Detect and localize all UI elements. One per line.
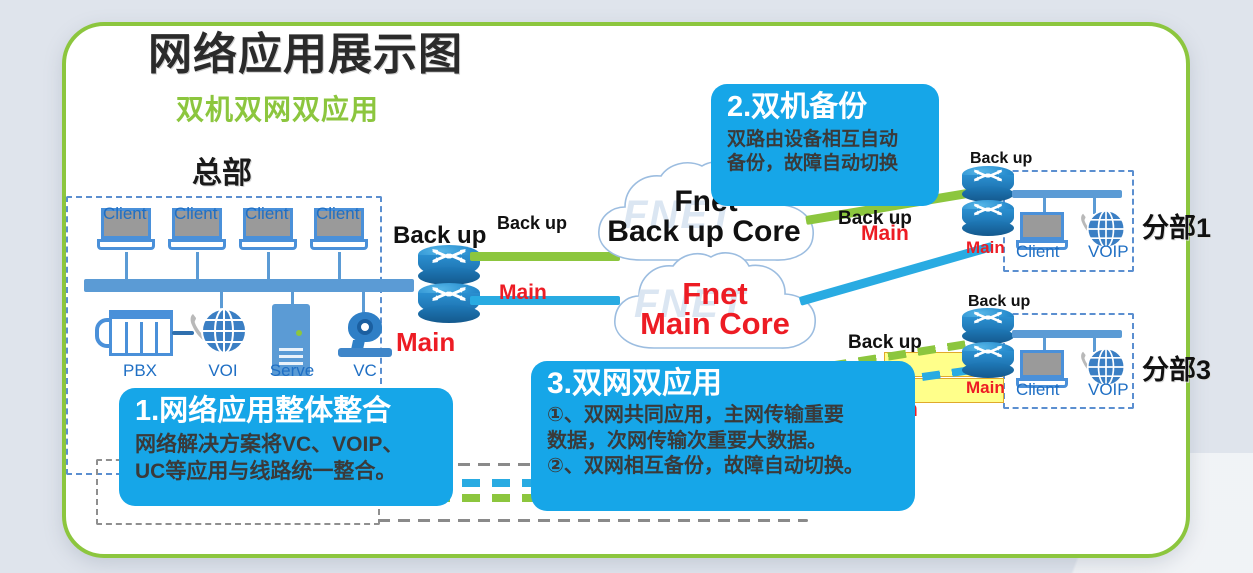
hq-device-label: VC [340, 361, 390, 381]
pbx-divider-icon [140, 322, 143, 353]
callout-2-body-line: 备份，故障自动切换 [727, 152, 923, 176]
camera-lens-icon [357, 319, 373, 335]
phone-hook-icon [95, 318, 109, 348]
branch1-title: 分部1 [1142, 206, 1211, 245]
callout-1-title: 1.网络应用整体整合 [135, 396, 437, 428]
hq-client-label: Client [316, 205, 362, 222]
hq-router-main-label: Main [396, 327, 455, 358]
hq-device-label: Serve [262, 361, 322, 381]
callout-1[interactable]: 1.网络应用整体整合 网络解决方案将VC、VOIP、 UC等应用与线路统一整合。 [119, 388, 453, 506]
callout-3-body-line: 数据，次网传输次重要大数据。 [547, 429, 899, 455]
router-arrows-icon [962, 342, 1014, 361]
branch1-main-router[interactable] [962, 200, 1014, 236]
server-line-icon [279, 355, 303, 358]
branch1-voip-label: VOIP [1088, 243, 1122, 260]
branch1-router-main-label: Main [966, 238, 1005, 258]
router-arrows-icon [962, 166, 1014, 185]
router-bottom-icon [418, 305, 480, 323]
router-bottom-icon [962, 362, 1014, 378]
laptop-screen-icon [1020, 350, 1064, 378]
hq-backup-link-label: Back up [497, 213, 567, 234]
laptop-screen-icon [1020, 212, 1064, 240]
branch1-backup-router[interactable] [962, 166, 1014, 202]
callout-3[interactable]: 3.双网双应用 ①、双网共同应用，主网传输重要 数据，次网传输次重要大数据。 ②… [531, 361, 915, 511]
laptop-base-icon [310, 239, 368, 250]
hq-client-label: Client [103, 205, 149, 222]
branch3-router-main-label: Main [966, 378, 1005, 398]
main-core-line2: Main Core [609, 308, 821, 340]
hq-client-label: Client [174, 205, 220, 222]
hq-drop-line [196, 252, 199, 282]
pbx-divider-icon [125, 322, 128, 353]
hq-drop-line [267, 252, 270, 282]
branch3-main-router[interactable] [962, 342, 1014, 378]
video-camera-icon[interactable] [338, 312, 392, 360]
callout-2[interactable]: 2.双机备份 双路由设备相互自动 备份，故障自动切换 [711, 84, 939, 206]
hq-drop-line [338, 252, 341, 282]
hq-drop-line [362, 290, 365, 314]
callout-1-body-line: UC等应用与线路统一整合。 [135, 459, 437, 486]
branch1-lan-bus [1012, 190, 1122, 198]
hq-device-label: PBX [115, 361, 165, 381]
hq-device-label: VOI [195, 361, 251, 381]
router-bottom-icon [962, 220, 1014, 236]
main-core-line1: Fnet [667, 278, 763, 310]
callout-3-body-line: ②、双网相互备份，故障自动切换。 [547, 454, 899, 480]
hq-main-link-label: Main [499, 281, 547, 305]
diagram-canvas: 网络应用展示图 双机双网双应用 总部 Client Client Client … [0, 0, 1253, 573]
callout-3-body-line: ①、双网共同应用，主网传输重要 [547, 403, 899, 429]
callout-2-title: 2.双机备份 [727, 92, 923, 124]
branch3-backup-router[interactable] [962, 308, 1014, 344]
pbx-header-icon [109, 310, 173, 319]
laptop-base-icon [168, 239, 226, 250]
hq-client-label: Client [245, 205, 291, 222]
callout-2-body-line: 双路由设备相互自动 [727, 128, 923, 152]
branch1-client-label: Client [1016, 243, 1068, 260]
hq-drop-line [125, 252, 128, 282]
page-title: 网络应用展示图 [148, 30, 463, 81]
laptop-base-icon [239, 239, 297, 250]
branch3-title: 分部3 [1142, 348, 1211, 387]
backup-core-line2: Back up Core [589, 217, 819, 248]
main-core-cloud: FNET Fnet Main Core [600, 250, 830, 363]
router-arrows-icon [962, 200, 1014, 219]
page-subtitle: 双机双网双应用 [176, 88, 379, 128]
server-line-icon [279, 348, 303, 351]
branch3-backup-label: Back up [848, 332, 922, 354]
branch1-main-label: Main [861, 222, 909, 246]
branch3-voip-label: VOIP [1088, 381, 1122, 398]
pbx-divider-icon [155, 322, 158, 353]
branch3-client-label: Client [1016, 381, 1068, 398]
laptop-base-icon [97, 239, 155, 250]
pbx-icon[interactable] [95, 310, 173, 356]
branch2-zone-dashed-link [378, 519, 808, 522]
server-led-icon [296, 330, 302, 336]
router-arrows-icon [962, 308, 1014, 327]
headquarters-title: 总部 [192, 148, 252, 192]
callout-1-body-line: 网络解决方案将VC、VOIP、 [135, 432, 437, 459]
hq-backup-router[interactable] [418, 245, 480, 285]
camera-base-icon [338, 348, 392, 357]
hq-drop-line [291, 290, 294, 304]
branch3-lan-bus [1012, 330, 1122, 338]
globe-icon[interactable] [200, 307, 248, 355]
callout-3-title: 3.双网双应用 [547, 367, 899, 400]
